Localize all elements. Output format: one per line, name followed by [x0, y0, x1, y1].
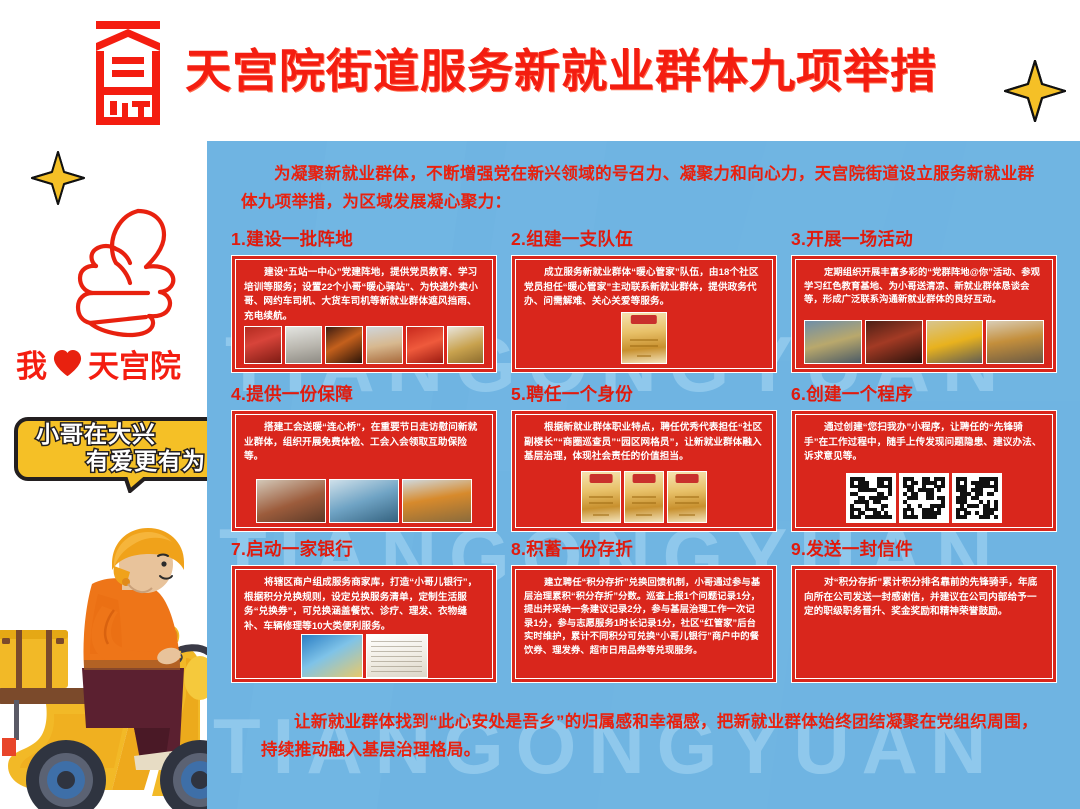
measure-title-6: 6.创建一个程序 [791, 384, 1057, 406]
measure-text-9: 对“积分存折”累计积分排名靠前的先锋骑手，年底向所在公司发送一封感谢信，并建议在… [804, 576, 1044, 620]
certificate-strip-2 [524, 312, 764, 364]
photo-strip-3 [804, 320, 1044, 364]
photo-thumb [865, 320, 923, 364]
photo-thumb [329, 479, 399, 523]
intro-paragraph: 为凝聚新就业群体，不断增强党在新兴领域的号召力、凝聚力和向心力，天宫院街道设立服… [241, 160, 1041, 216]
photo-strip-1 [244, 326, 484, 364]
photo-thumb [325, 326, 363, 364]
measure-card-1: 1.建设一批阵地 建设“五站一中心”党建阵地，提供党员教育、学习培训等服务；设置… [231, 229, 497, 384]
measure-title-1: 1.建设一批阵地 [231, 229, 497, 251]
measure-title-4: 4.提供一份保障 [231, 384, 497, 406]
measure-body-8: 建立聘任“积分存折”兑换回馈机制，小哥通过参与基层治理累积“积分存折”分数。巡查… [511, 565, 777, 683]
photo-thumb [366, 326, 404, 364]
photo-thumb [256, 479, 326, 523]
measure-title-3: 3.开展一场活动 [791, 229, 1057, 251]
certificate-thumb [621, 312, 667, 364]
measure-text-1: 建设“五站一中心”党建阵地，提供党员教育、学习培训等服务；设置22个小哥“暖心驿… [244, 266, 484, 324]
measure-title-7: 7.启动一家银行 [231, 539, 497, 561]
photo-thumb [926, 320, 984, 364]
certificate-thumb [624, 471, 664, 523]
content-panel: TIANGONGYUAN TIANGONGYUAN TIANGONGYUAN T… [207, 141, 1080, 809]
measure-text-5: 根据新就业群体职业特点，聘任优秀代表担任“社区副楼长”“商圈巡查员”“园区网格员… [524, 421, 764, 465]
certificate-thumb [581, 471, 621, 523]
outro-paragraph: 让新就业群体找到“此心安处是吾乡”的归属感和幸福感，把新就业群体始终团结凝聚在党… [261, 708, 1051, 764]
thumbs-up-icon [52, 205, 212, 340]
qr-code-icon[interactable] [846, 473, 896, 523]
slogan-speech-bubble: 小哥在大兴 有爱更有为 [14, 415, 222, 493]
measure-body-1: 建设“五站一中心”党建阵地，提供党员教育、学习培训等服务；设置22个小哥“暖心驿… [231, 255, 497, 373]
measure-card-8: 8.积蓄一份存折 建立聘任“积分存折”兑换回馈机制，小哥通过参与基层治理累积“积… [511, 539, 777, 694]
photo-thumb [285, 326, 323, 364]
measure-body-2: 成立服务新就业群体“暖心管家”队伍，由18个社区党员担任“暖心管家”主动联系新就… [511, 255, 777, 373]
photo-thumb [447, 326, 485, 364]
measure-body-9: 对“积分存折”累计积分排名靠前的先锋骑手，年底向所在公司发送一封感谢信，并建议在… [791, 565, 1057, 683]
bubble-text-block: 小哥在大兴 有爱更有为 [14, 415, 222, 481]
measure-body-3: 定期组织开展丰富多彩的“党群阵地@你”活动、参观学习红色教育基地、为小哥送清凉、… [791, 255, 1057, 373]
bubble-line-2: 有爱更有为 [14, 448, 222, 475]
document-strip-7 [244, 634, 484, 678]
measure-text-3: 定期组织开展丰富多彩的“党群阵地@你”活动、参观学习红色教育基地、为小哥送清凉、… [804, 266, 1044, 307]
photo-thumb [406, 326, 444, 364]
page-title: 天宫院街道服务新就业群体九项举措 [185, 45, 937, 97]
measure-title-2: 2.组建一支队伍 [511, 229, 777, 251]
qr-code-strip-6[interactable] [804, 473, 1044, 523]
four-point-star-icon [1004, 60, 1066, 122]
measures-grid: 1.建设一批阵地 建设“五站一中心”党建阵地，提供党员教育、学习培训等服务；设置… [231, 229, 1057, 699]
four-point-star-icon-left [31, 151, 85, 205]
photo-strip-4 [244, 479, 484, 523]
measure-text-4: 搭建工会送暖“连心桥”，在重要节日走访慰问新就业群体，组织开展免费体检、工会入会… [244, 421, 484, 465]
measure-card-7: 7.启动一家银行 将辖区商户组成服务商家库，打造“小哥儿银行”，根据积分兑换规则… [231, 539, 497, 694]
measure-text-6: 通过创建“您扫我办”小程序，让聘任的“先锋骑手”在工作过程中，随手上传发现问题隐… [804, 421, 1044, 465]
measure-body-5: 根据新就业群体职业特点，聘任优秀代表担任“社区副楼长”“商圈巡查员”“园区网格员… [511, 410, 777, 532]
delivery-scooter-rider-illustration [0, 528, 230, 809]
measure-card-6: 6.创建一个程序 通过创建“您扫我办”小程序，让聘任的“先锋骑手”在工作过程中，… [791, 384, 1057, 539]
measure-title-9: 9.发送一封信件 [791, 539, 1057, 561]
bubble-line-1: 小哥在大兴 [14, 421, 222, 448]
measure-card-2: 2.组建一支队伍 成立服务新就业群体“暖心管家”队伍，由18个社区党员担任“暖心… [511, 229, 777, 384]
voucher-thumb [301, 634, 363, 678]
measure-text-7: 将辖区商户组成服务商家库，打造“小哥儿银行”，根据积分兑换规则，设定兑换服务清单… [244, 576, 484, 634]
measure-text-8: 建立聘任“积分存折”兑换回馈机制，小哥通过参与基层治理累积“积分存折”分数。巡查… [524, 576, 764, 658]
seal-logo-icon [82, 17, 174, 129]
qr-code-icon[interactable] [899, 473, 949, 523]
poster-root: 天宫院街道服务新就业群体九项举措 [0, 0, 1080, 809]
measure-body-6: 通过创建“您扫我办”小程序，让聘任的“先锋骑手”在工作过程中，随手上传发现问题隐… [791, 410, 1057, 532]
measure-card-4: 4.提供一份保障 搭建工会送暖“连心桥”，在重要节日走访慰问新就业群体，组织开展… [231, 384, 497, 539]
certificate-strip-5 [524, 471, 764, 523]
photo-thumb [804, 320, 862, 364]
measure-title-5: 5.聘任一个身份 [511, 384, 777, 406]
certificate-thumb [667, 471, 707, 523]
poster-header: 天宫院街道服务新就业群体九项举措 [0, 0, 1080, 140]
qr-code-icon[interactable] [952, 473, 1002, 523]
measure-title-8: 8.积蓄一份存折 [511, 539, 777, 561]
heart-icon [52, 348, 83, 379]
measure-body-7: 将辖区商户组成服务商家库，打造“小哥儿银行”，根据积分兑换规则，设定兑换服务清单… [231, 565, 497, 683]
measure-text-2: 成立服务新就业群体“暖心管家”队伍，由18个社区党员担任“暖心管家”主动联系新就… [524, 266, 764, 310]
measure-card-5: 5.聘任一个身份 根据新就业群体职业特点，聘任优秀代表担任“社区副楼长”“商圈巡… [511, 384, 777, 539]
photo-thumb [986, 320, 1044, 364]
photo-thumb [244, 326, 282, 364]
measure-card-9: 9.发送一封信件 对“积分存折”累计积分排名靠前的先锋骑手，年底向所在公司发送一… [791, 539, 1057, 694]
love-suffix: 天宫院 [88, 341, 181, 386]
love-tiangongyuan-slogan: 我 天宫院 [16, 343, 226, 383]
measure-body-4: 搭建工会送暖“连心桥”，在重要节日走访慰问新就业群体，组织开展免费体检、工会入会… [231, 410, 497, 532]
photo-thumb [402, 479, 472, 523]
measure-card-3: 3.开展一场活动 定期组织开展丰富多彩的“党群阵地@你”活动、参观学习红色教育基… [791, 229, 1057, 384]
love-prefix: 我 [16, 341, 47, 386]
document-thumb [366, 634, 428, 678]
